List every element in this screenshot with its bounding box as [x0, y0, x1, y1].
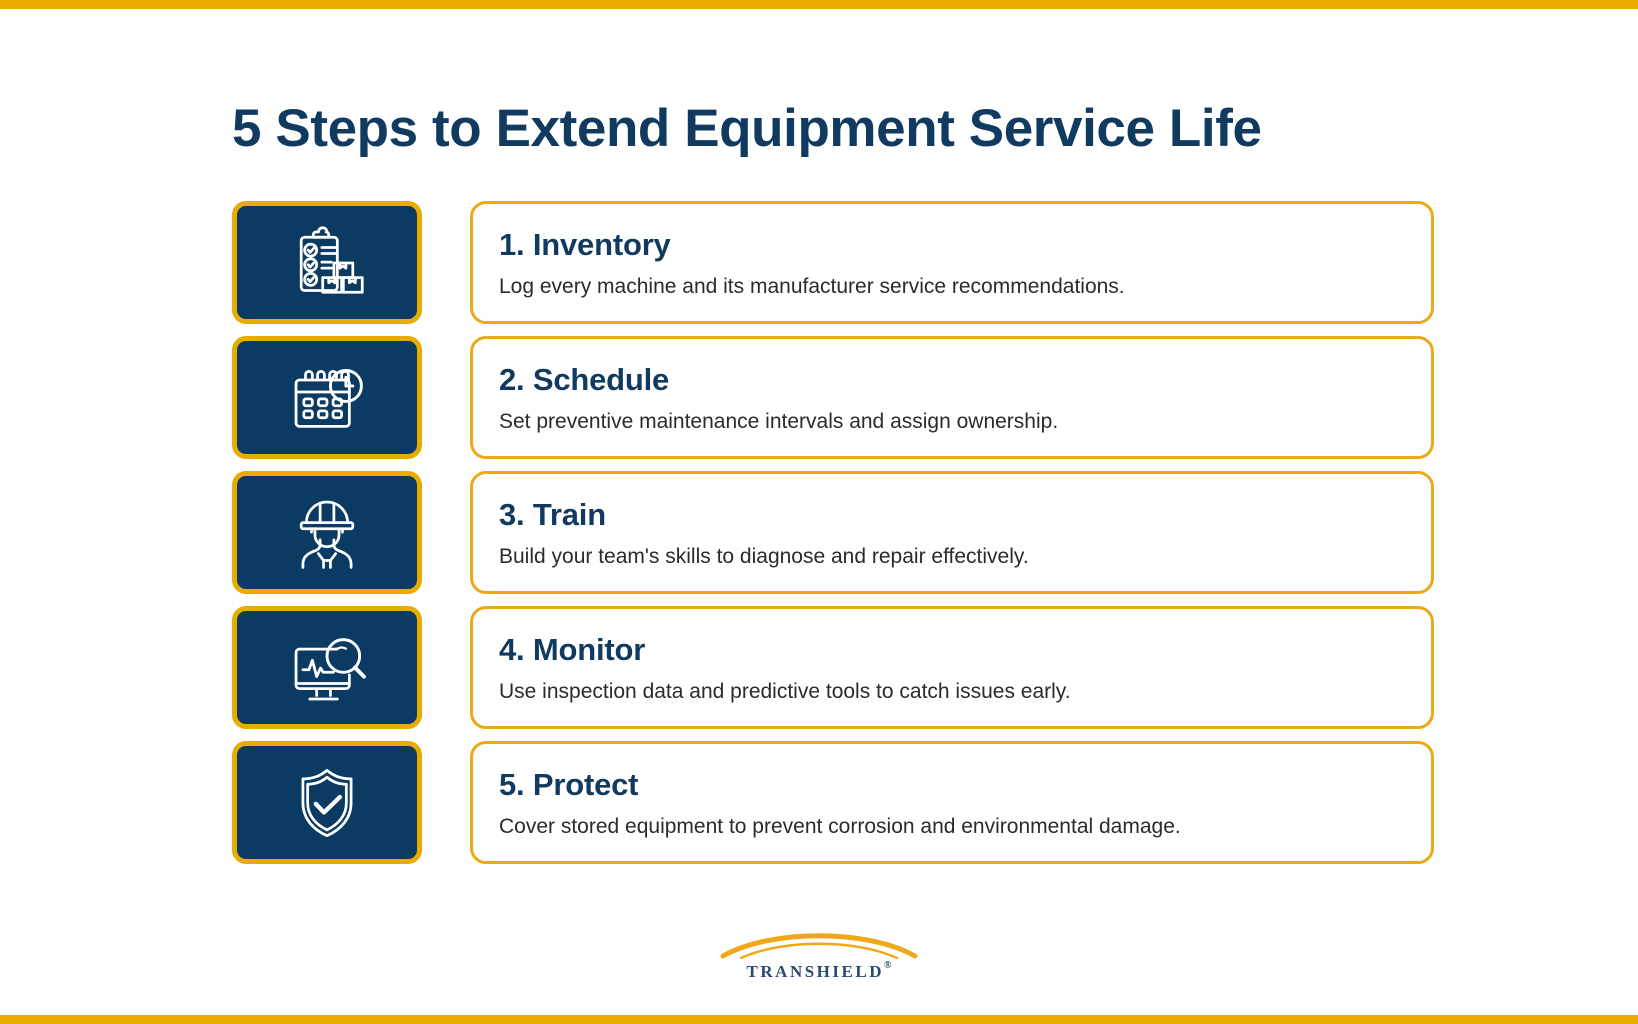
- step-row: 4. Monitor Use inspection data and predi…: [232, 606, 1434, 729]
- footer-logo: Transhield®: [0, 925, 1638, 984]
- step-card-monitor: 4. Monitor Use inspection data and predi…: [470, 606, 1434, 729]
- worker-hard-hat-icon: [284, 490, 370, 576]
- step-icon-tile-schedule: [232, 336, 422, 459]
- step-card-inventory: 1. Inventory Log every machine and its m…: [470, 201, 1434, 324]
- transhield-arc-icon: [719, 925, 919, 959]
- step-card-protect: 5. Protect Cover stored equipment to pre…: [470, 741, 1434, 864]
- step-row: 2. Schedule Set preventive maintenance i…: [232, 336, 1434, 459]
- step-icon-tile-inventory: [232, 201, 422, 324]
- step-title: 3. Train: [499, 497, 1405, 533]
- step-card-train: 3. Train Build your team's skills to dia…: [470, 471, 1434, 594]
- monitor-pulse-magnifier-icon: [284, 625, 370, 711]
- step-description: Log every machine and its manufacturer s…: [499, 274, 1405, 300]
- step-icon-tile-train: [232, 471, 422, 594]
- steps-list: 1. Inventory Log every machine and its m…: [232, 201, 1434, 864]
- step-title: 5. Protect: [499, 767, 1405, 803]
- slide-root: 5 Steps to Extend Equipment Service Life: [0, 0, 1638, 1024]
- step-icon-tile-protect: [232, 741, 422, 864]
- step-row: 1. Inventory Log every machine and its m…: [232, 201, 1434, 324]
- shield-check-icon: [284, 760, 370, 846]
- page-title: 5 Steps to Extend Equipment Service Life: [232, 98, 1262, 159]
- brand-wordmark: Transhield®: [747, 957, 892, 984]
- step-title: 4. Monitor: [499, 632, 1405, 668]
- step-row: 3. Train Build your team's skills to dia…: [232, 471, 1434, 594]
- step-icon-tile-monitor: [232, 606, 422, 729]
- registered-mark: ®: [884, 960, 891, 971]
- step-description: Cover stored equipment to prevent corros…: [499, 814, 1405, 840]
- step-row: 5. Protect Cover stored equipment to pre…: [232, 741, 1434, 864]
- step-title: 1. Inventory: [499, 227, 1405, 263]
- step-description: Set preventive maintenance intervals and…: [499, 409, 1405, 435]
- step-description: Build your team's skills to diagnose and…: [499, 544, 1405, 570]
- step-title: 2. Schedule: [499, 362, 1405, 398]
- step-description: Use inspection data and predictive tools…: [499, 679, 1405, 705]
- step-card-schedule: 2. Schedule Set preventive maintenance i…: [470, 336, 1434, 459]
- clipboard-checklist-boxes-icon: [284, 220, 370, 306]
- top-accent-bar: [0, 0, 1638, 9]
- brand-name: Transhield: [747, 957, 884, 983]
- bottom-accent-bar: [0, 1015, 1638, 1024]
- calendar-clock-icon: [284, 355, 370, 441]
